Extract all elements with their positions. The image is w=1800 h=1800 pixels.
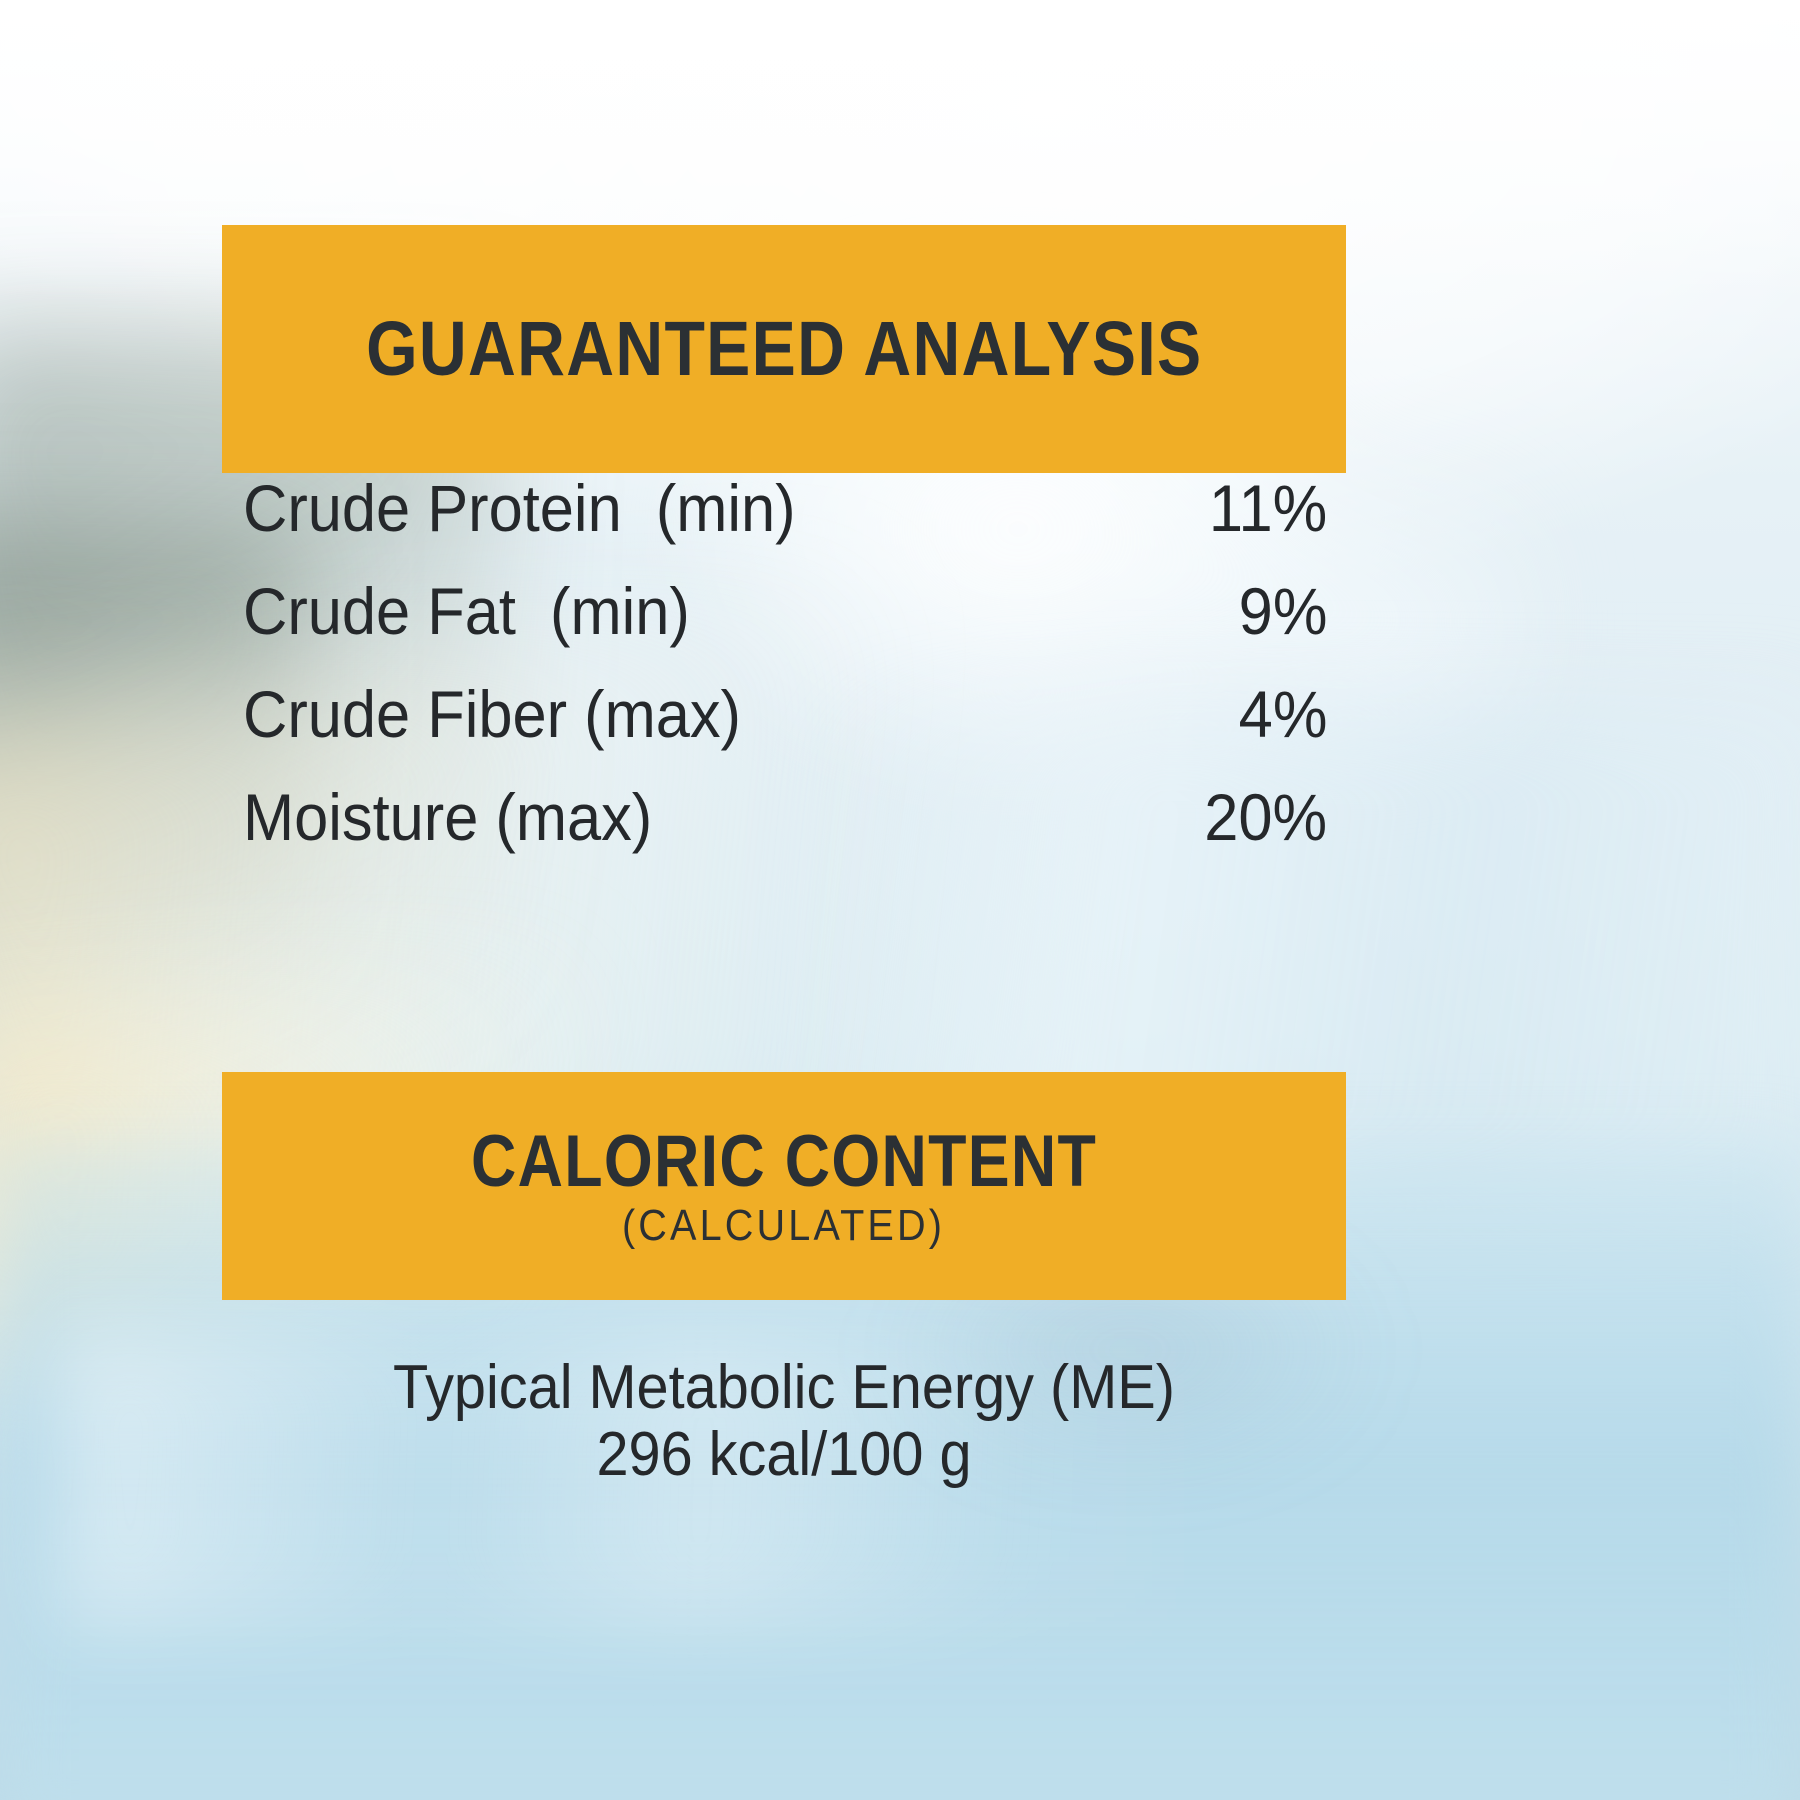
row-value-moisture: 20%: [1204, 784, 1327, 850]
table-row: Crude Protein (min) 11%: [243, 475, 1327, 578]
guaranteed-analysis-heading: GUARANTEED ANALYSIS: [366, 311, 1202, 388]
guaranteed-analysis-header-band: GUARANTEED ANALYSIS: [222, 225, 1346, 473]
row-label-crude-fiber: Crude Fiber (max): [243, 681, 741, 747]
guaranteed-analysis-table: Crude Protein (min) 11% Crude Fat (min) …: [243, 475, 1327, 887]
nutrition-panel: GUARANTEED ANALYSIS Crude Protein (min) …: [0, 0, 1800, 1800]
table-row: Crude Fat (min) 9%: [243, 578, 1327, 681]
metabolic-energy-value: 296 kcal/100 g: [261, 1422, 1306, 1489]
row-value-crude-protein: 11%: [1209, 475, 1327, 541]
metabolic-energy-label: Typical Metabolic Energy (ME): [261, 1355, 1306, 1422]
row-value-crude-fat: 9%: [1238, 578, 1327, 644]
row-label-crude-protein: Crude Protein (min): [243, 475, 796, 541]
caloric-content-body: Typical Metabolic Energy (ME) 296 kcal/1…: [222, 1355, 1346, 1489]
row-value-crude-fiber: 4%: [1238, 681, 1327, 747]
row-label-crude-fat: Crude Fat (min): [243, 578, 690, 644]
caloric-content-heading: CALORIC CONTENT: [471, 1125, 1097, 1198]
row-label-moisture: Moisture (max): [243, 784, 652, 850]
table-row: Moisture (max) 20%: [243, 784, 1327, 887]
caloric-content-header-band: CALORIC CONTENT (CALCULATED): [222, 1072, 1346, 1300]
caloric-content-subheading: (CALCULATED): [622, 1204, 945, 1248]
table-row: Crude Fiber (max) 4%: [243, 681, 1327, 784]
